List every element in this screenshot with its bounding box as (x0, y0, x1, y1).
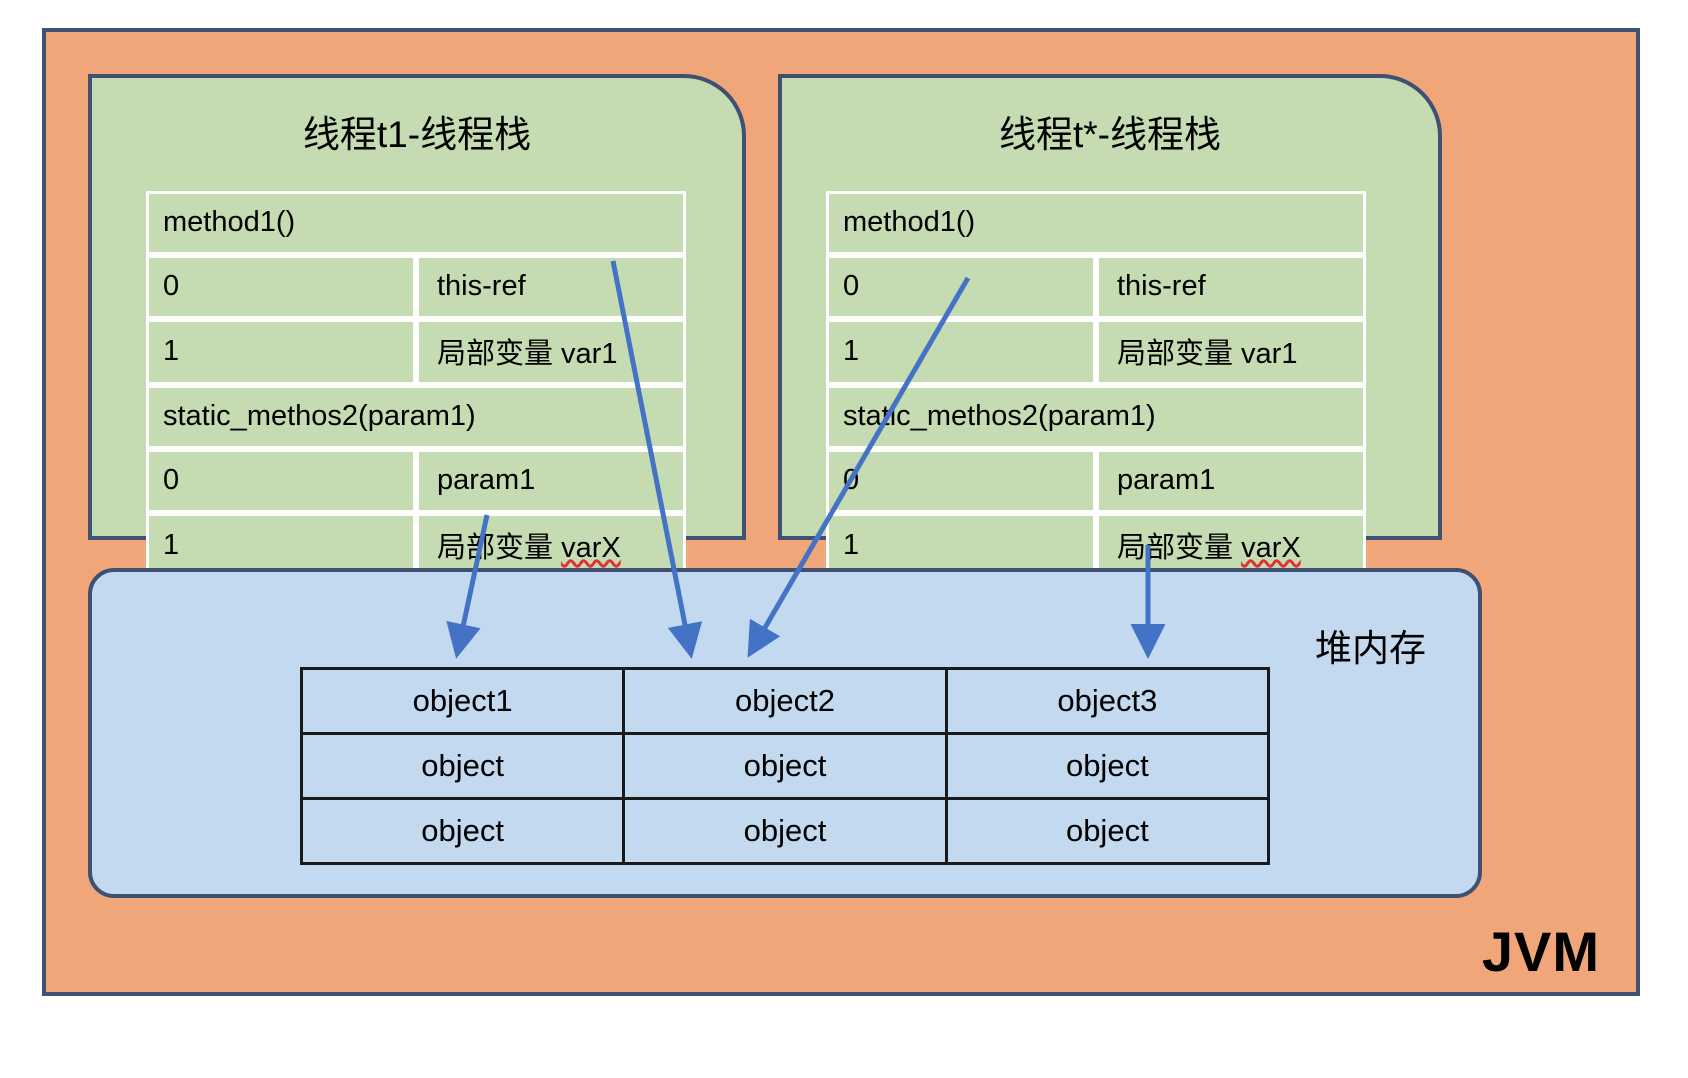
slot-label: 局部变量 var1 (416, 319, 686, 385)
slot-label-text: 局部变量 (1117, 532, 1241, 564)
frame-header-row: static_methos2(param1) (826, 385, 1366, 449)
method-name-cell: static_methos2(param1) (826, 385, 1366, 449)
slot-index: 0 (146, 255, 416, 319)
slot-index: 0 (826, 255, 1096, 319)
slot-label-misspelled: varX (1241, 532, 1301, 564)
table-row: object object object (302, 734, 1269, 799)
frame-header-row: static_methos2(param1) (146, 385, 686, 449)
table-row: object object object (302, 799, 1269, 864)
heap-object-table: object1 object2 object3 object object ob… (300, 667, 1270, 865)
stack-frame-table-t1: method1() 0 this-ref 1 局部变量 var1 static_… (146, 191, 686, 579)
diagram-canvas: 线程t1-线程栈 method1() 0 this-ref 1 局部变量 var… (0, 0, 1688, 1078)
slot-row: 0 this-ref (826, 255, 1366, 319)
slot-label-text: 局部变量 (437, 532, 561, 564)
slot-index: 1 (146, 319, 416, 385)
slot-label-misspelled: varX (561, 532, 621, 564)
stack-frame-table-tstar: method1() 0 this-ref 1 局部变量 var1 static_… (826, 191, 1366, 579)
slot-label: param1 (1096, 449, 1366, 513)
heap-label: 堆内存 (1315, 618, 1426, 672)
heap-cell: object1 (302, 669, 624, 734)
thread-stack-panel-tstar: 线程t*-线程栈 method1() 0 this-ref 1 局部变量 var… (778, 74, 1442, 540)
heap-memory-panel: 堆内存 object1 object2 object3 object objec… (88, 568, 1482, 898)
slot-row: 0 param1 (826, 449, 1366, 513)
slot-index: 0 (146, 449, 416, 513)
thread-stack-title: 线程t*-线程栈 (782, 104, 1438, 158)
slot-label: 局部变量 var1 (1096, 319, 1366, 385)
heap-cell: object (946, 799, 1268, 864)
slot-row: 0 this-ref (146, 255, 686, 319)
method-name-cell: static_methos2(param1) (146, 385, 686, 449)
method-name-cell: method1() (146, 191, 686, 255)
heap-cell: object (946, 734, 1268, 799)
heap-cell: object (302, 734, 624, 799)
frame-header-row: method1() (826, 191, 1366, 255)
method-name-cell: method1() (826, 191, 1366, 255)
heap-cell: object (302, 799, 624, 864)
jvm-container: 线程t1-线程栈 method1() 0 this-ref 1 局部变量 var… (42, 28, 1640, 996)
slot-row: 1 局部变量 var1 (826, 319, 1366, 385)
slot-label: this-ref (416, 255, 686, 319)
jvm-label: JVM (1482, 924, 1600, 980)
slot-index: 0 (826, 449, 1096, 513)
table-row: object1 object2 object3 (302, 669, 1269, 734)
heap-cell: object (624, 799, 946, 864)
heap-cell: object2 (624, 669, 946, 734)
slot-label: this-ref (1096, 255, 1366, 319)
thread-stack-title: 线程t1-线程栈 (92, 104, 742, 158)
slot-label: param1 (416, 449, 686, 513)
slot-index: 1 (826, 319, 1096, 385)
frame-header-row: method1() (146, 191, 686, 255)
thread-stack-panel-t1: 线程t1-线程栈 method1() 0 this-ref 1 局部变量 var… (88, 74, 746, 540)
slot-row: 0 param1 (146, 449, 686, 513)
heap-cell: object3 (946, 669, 1268, 734)
heap-cell: object (624, 734, 946, 799)
slot-row: 1 局部变量 var1 (146, 319, 686, 385)
